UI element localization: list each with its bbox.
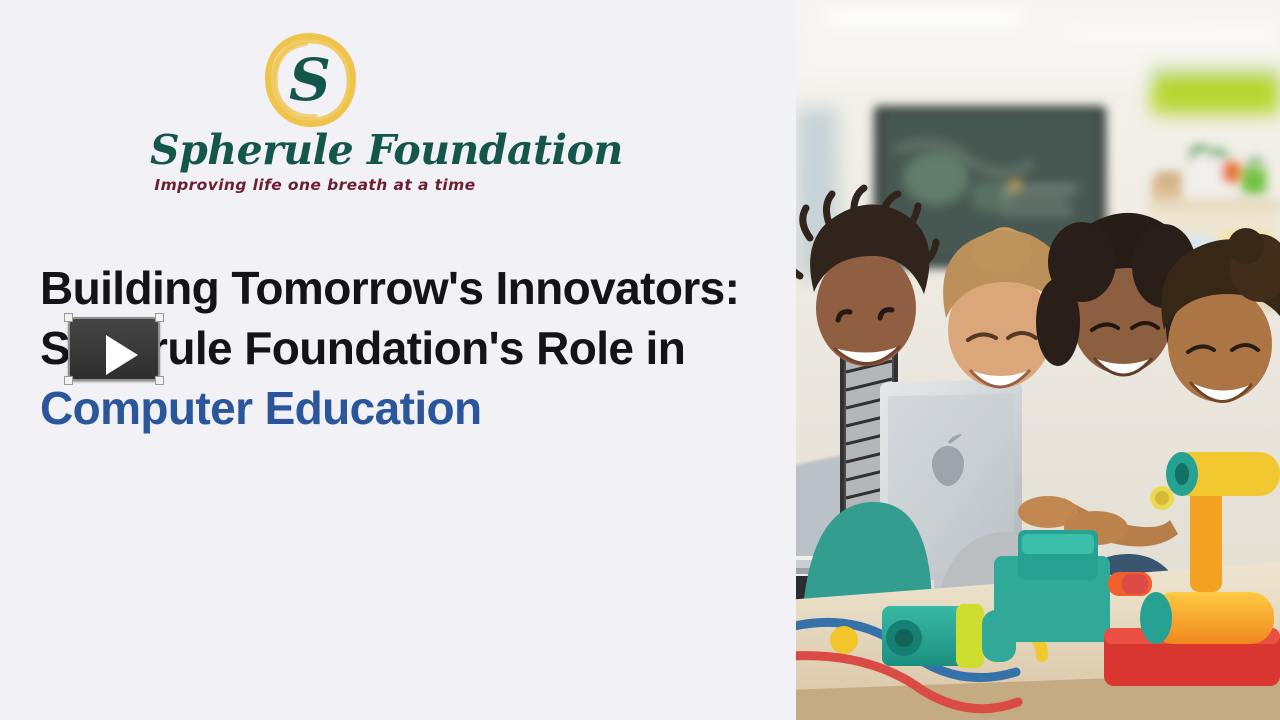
logo-wordmark: Spherule Foundation: [150, 124, 480, 176]
svg-text:S: S: [289, 46, 331, 114]
play-button-surface[interactable]: [68, 317, 160, 381]
play-triangle-icon: [106, 335, 138, 375]
resize-handle-icon-bottom-right[interactable]: [155, 376, 164, 385]
slide-title-accent: Computer Education: [40, 382, 482, 434]
classroom-children-computer-robotics-photo: [796, 0, 1280, 720]
presentation-slide: S Spherule Foundation Improving life one…: [0, 0, 1280, 720]
left-content-panel: S Spherule Foundation Improving life one…: [0, 0, 796, 720]
scribble-circle-monogram-icon: S: [258, 28, 362, 132]
logo-tagline: Improving life one breath at a time: [150, 174, 480, 196]
logo: S Spherule Foundation Improving life one…: [150, 28, 480, 196]
resize-handle-icon-top-right[interactable]: [155, 313, 164, 322]
video-play-button[interactable]: [64, 313, 164, 385]
resize-handle-icon-bottom-left[interactable]: [64, 376, 73, 385]
resize-handle-icon-top-left[interactable]: [64, 313, 73, 322]
